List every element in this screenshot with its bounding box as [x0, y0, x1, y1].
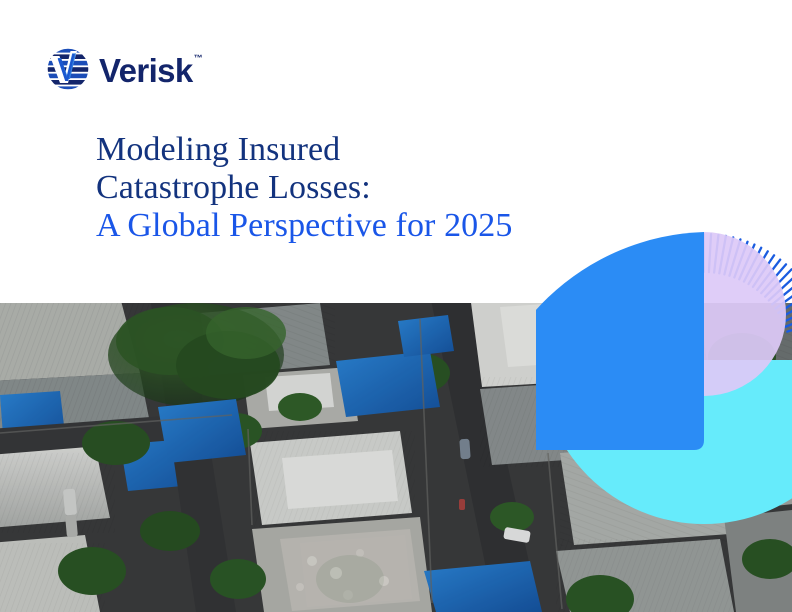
- verisk-wordmark-text: Verisk: [99, 52, 193, 89]
- cover-photo: [0, 303, 792, 612]
- verisk-wordmark: Verisk™: [99, 54, 202, 87]
- title-line-3: A Global Perspective for 2025: [96, 207, 616, 245]
- page-title: Modeling Insured Catastrophe Losses: A G…: [96, 131, 616, 245]
- title-line-2: Catastrophe Losses:: [96, 169, 616, 207]
- verisk-circle-checkmark-logo-icon: [46, 47, 90, 91]
- report-cover-page: Verisk™ Modeling Insured Catastrophe Los…: [0, 0, 792, 612]
- title-line-1: Modeling Insured: [96, 131, 616, 169]
- trademark-symbol: ™: [194, 53, 203, 63]
- verisk-logo[interactable]: Verisk™: [46, 47, 202, 91]
